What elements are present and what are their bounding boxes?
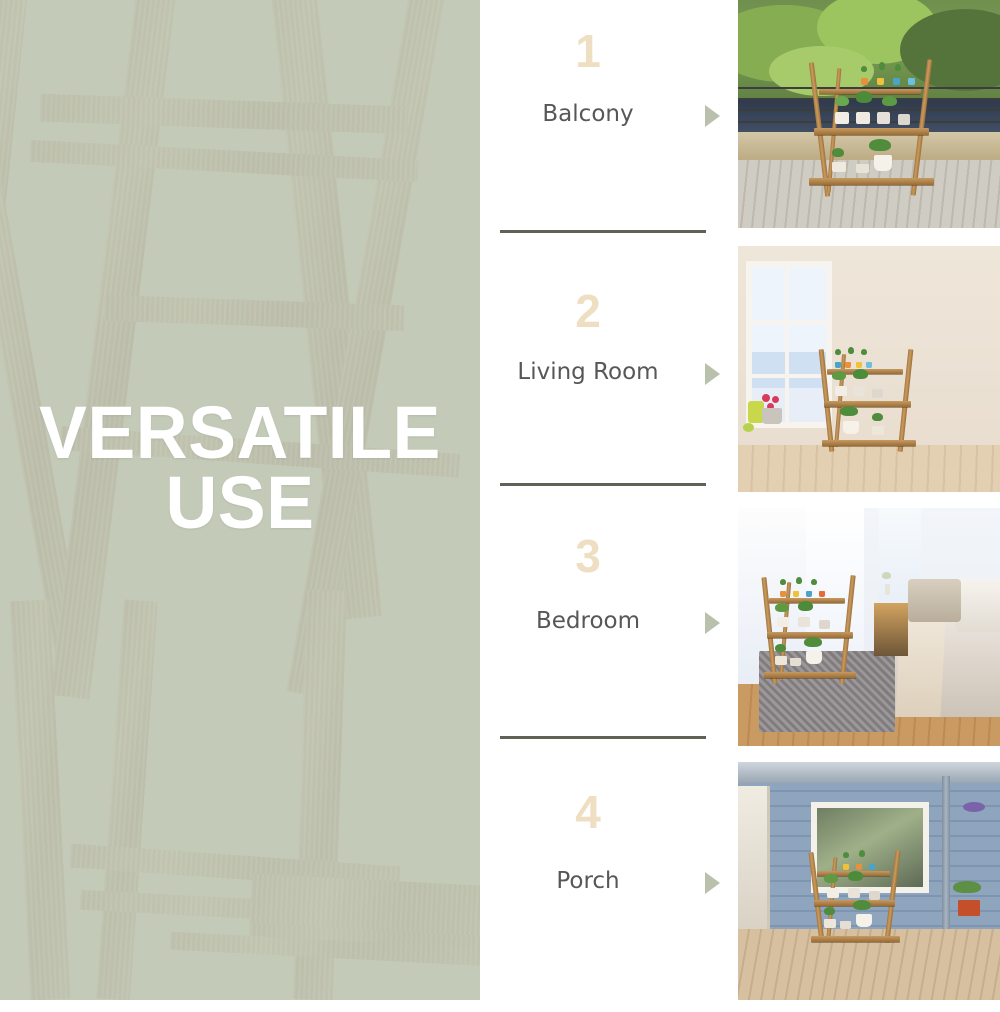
photo-bedroom bbox=[738, 508, 1000, 746]
list-divider bbox=[500, 230, 706, 233]
list-item-number: 2 bbox=[480, 288, 696, 334]
photo-living-room bbox=[738, 246, 1000, 492]
photo-column bbox=[738, 0, 1000, 1000]
photo-balcony bbox=[738, 0, 1000, 228]
list-item-label: Porch bbox=[480, 867, 696, 896]
triangle-right-icon bbox=[705, 612, 720, 634]
page-title: VERSATILE USE bbox=[7, 398, 473, 537]
list-item-number: 4 bbox=[480, 789, 696, 835]
hero-panel: VERSATILE USE bbox=[0, 0, 480, 1000]
product-feature-panel: VERSATILE USE 1 Balcony 2 Living Room 3 … bbox=[0, 0, 1000, 1000]
photo-porch bbox=[738, 762, 1000, 1000]
list-item-number: 3 bbox=[480, 533, 696, 579]
list-item[interactable]: 4 Porch bbox=[480, 759, 738, 1012]
triangle-right-icon bbox=[705, 105, 720, 127]
triangle-right-icon bbox=[705, 363, 720, 385]
hero-title-line2: USE bbox=[7, 468, 473, 538]
use-case-list: 1 Balcony 2 Living Room 3 Bedroom 4 Porc… bbox=[480, 0, 738, 1000]
list-item[interactable]: 2 Living Room bbox=[480, 253, 738, 506]
list-item[interactable]: 1 Balcony bbox=[480, 0, 738, 253]
triangle-right-icon bbox=[705, 872, 720, 894]
list-item-label: Living Room bbox=[480, 358, 696, 387]
list-divider bbox=[500, 483, 706, 486]
list-divider bbox=[500, 736, 706, 739]
list-item-label: Balcony bbox=[480, 100, 696, 129]
list-item-number: 1 bbox=[480, 28, 696, 74]
list-item[interactable]: 3 Bedroom bbox=[480, 506, 738, 759]
list-item-label: Bedroom bbox=[480, 607, 696, 636]
